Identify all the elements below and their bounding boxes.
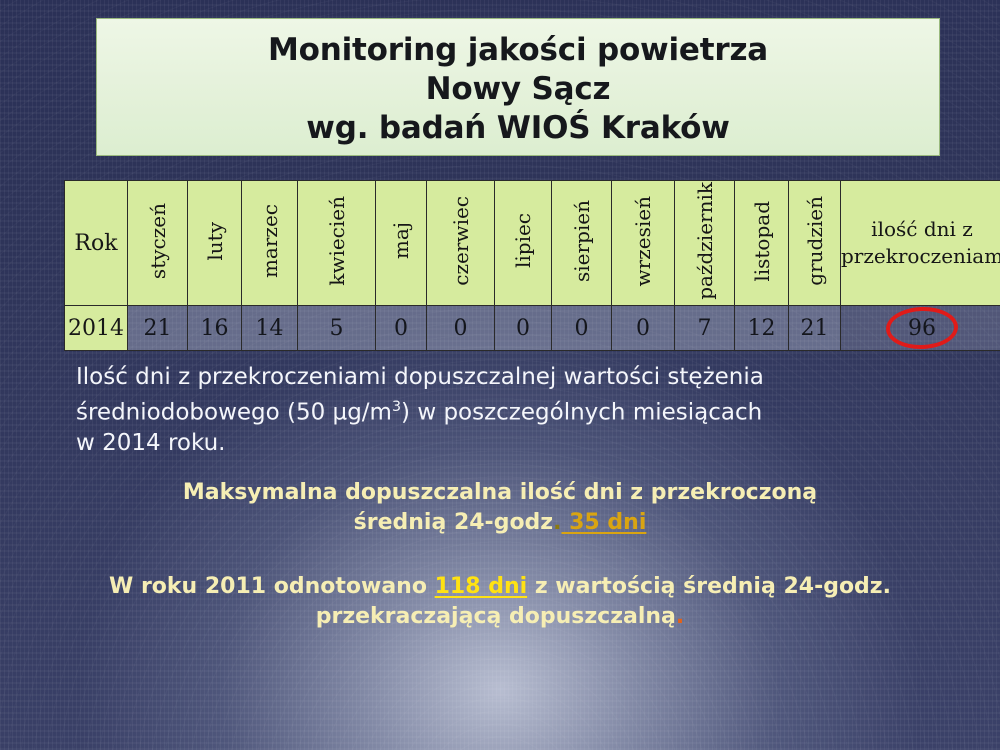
title-line-2: Nowy Sącz	[426, 70, 611, 109]
header-label-styczen: styczeń	[148, 203, 168, 279]
header-cell-lipiec: lipiec	[495, 181, 552, 306]
header-label-grudzien: grudzień	[805, 196, 825, 286]
cell-marzec: 14	[242, 306, 298, 351]
header-label-czerwiec: czerwiec	[451, 196, 471, 286]
statement-1-line-1: Maksymalna dopuszczalna ilość dni z prze…	[60, 478, 940, 508]
cell-luty: 16	[188, 306, 242, 351]
header-label-maj: maj	[391, 222, 411, 259]
body-line-2-part-a: średniodobowego (50 µg/m	[76, 400, 392, 426]
title-line-3: wg. badań WIOŚ Kraków	[306, 109, 729, 148]
statement-2011-record: W roku 2011 odnotowano 118 dni z wartośc…	[60, 572, 940, 632]
cell-wrzesien: 0	[612, 306, 675, 351]
table-header-row: Rok styczeń luty marzec kwiecień maj	[65, 181, 1000, 306]
header-cell-marzec: marzec	[242, 181, 298, 306]
header-cell-czerwiec: czerwiec	[427, 181, 495, 306]
header-label-rok: Rok	[74, 231, 117, 256]
cell-styczen: 21	[128, 306, 188, 351]
slide-canvas: Monitoring jakości powietrza Nowy Sącz w…	[0, 0, 1000, 750]
title-line-1: Monitoring jakości powietrza	[268, 31, 768, 70]
body-line-2-part-b: ) w poszczególnych miesiącach	[401, 400, 762, 426]
header-label-total-line1: ilość dni z	[841, 216, 1000, 243]
title-panel: Monitoring jakości powietrza Nowy Sącz w…	[96, 18, 940, 156]
statement-2-period: .	[676, 604, 684, 629]
cell-lipiec: 0	[495, 306, 552, 351]
cell-kwiecien: 5	[298, 306, 376, 351]
statement-max-allowed: Maksymalna dopuszczalna ilość dni z prze…	[60, 478, 940, 538]
statement-2-part-a: W roku 2011 odnotowano	[109, 574, 435, 599]
header-cell-total: ilość dni z przekroczeniami	[841, 181, 1000, 306]
header-cell-luty: luty	[188, 181, 242, 306]
cell-sierpien: 0	[552, 306, 612, 351]
cell-year: 2014	[65, 306, 128, 351]
cell-czerwiec: 0	[427, 306, 495, 351]
header-cell-kwiecien: kwiecień	[298, 181, 376, 306]
body-line-2: średniodobowego (50 µg/m3) w poszczególn…	[76, 392, 946, 428]
cell-pazdziernik: 7	[675, 306, 735, 351]
header-label-total-line2: przekroczeniami	[841, 243, 1000, 270]
header-label-sierpien: sierpień	[572, 200, 592, 282]
header-cell-styczen: styczeń	[128, 181, 188, 306]
body-line-2-superscript: 3	[392, 399, 401, 415]
cell-listopad: 12	[735, 306, 789, 351]
header-label-luty: luty	[205, 222, 225, 261]
cell-total: 96	[841, 306, 1000, 351]
header-label-lipiec: lipiec	[513, 213, 533, 268]
statement-2-highlight-118-dni: 118 dni	[435, 574, 528, 599]
header-cell-sierpien: sierpień	[552, 181, 612, 306]
header-cell-rok: Rok	[65, 181, 128, 306]
body-line-1: Ilość dni z przekroczeniami dopuszczalne…	[76, 362, 946, 392]
cell-grudzien: 21	[789, 306, 841, 351]
header-label-kwiecien: kwiecień	[327, 196, 347, 286]
monthly-exceedance-table: Rok styczeń luty marzec kwiecień maj	[64, 180, 1000, 351]
body-paragraph: Ilość dni z przekroczeniami dopuszczalne…	[76, 362, 946, 458]
header-label-marzec: marzec	[260, 204, 280, 278]
header-label-pazdziernik: październik	[695, 182, 715, 300]
header-cell-grudzien: grudzień	[789, 181, 841, 306]
statement-1-line-2-text: średnią 24-godz	[354, 510, 553, 535]
cell-maj: 0	[376, 306, 427, 351]
cell-total-value: 96	[908, 316, 936, 341]
statement-1-highlight-35-dni: 35 dni	[561, 510, 646, 535]
header-label-wrzesien: wrzesień	[633, 196, 653, 286]
header-cell-listopad: listopad	[735, 181, 789, 306]
header-cell-wrzesien: wrzesień	[612, 181, 675, 306]
table-row: 2014 21 16 14 5 0 0 0 0 0 7 12 21 96	[65, 306, 1000, 351]
header-cell-maj: maj	[376, 181, 427, 306]
header-cell-pazdziernik: październik	[675, 181, 735, 306]
statement-1-line-2: średnią 24-godz. 35 dni	[60, 508, 940, 538]
body-line-3: w 2014 roku.	[76, 428, 946, 458]
header-label-listopad: listopad	[752, 201, 772, 282]
